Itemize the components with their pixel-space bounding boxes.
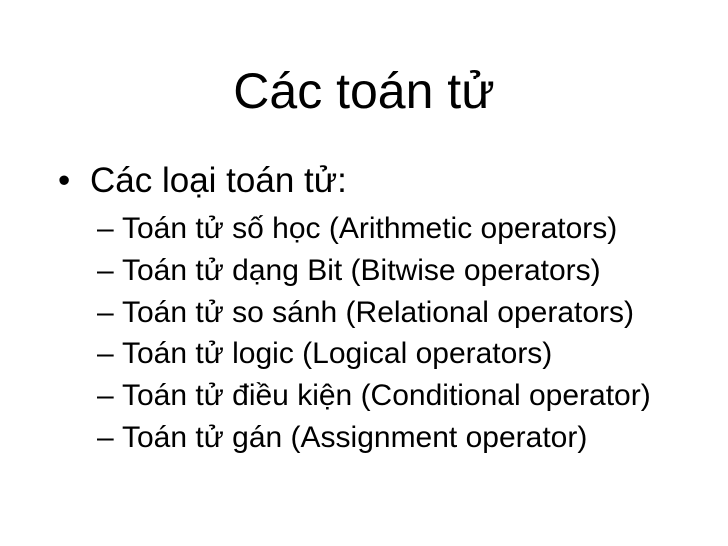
list-item: – Toán tử gán (Assignment operator) (0, 417, 728, 459)
list-item: – Toán tử số học (Arithmetic operators) (0, 208, 728, 250)
list-item: – Toán tử so sánh (Relational operators) (0, 292, 728, 334)
list-item-label: Toán tử điều kiện (Conditional operator) (122, 379, 651, 412)
list-item: – Toán tử logic (Logical operators) (0, 333, 728, 375)
bullet-dot-icon: • (58, 160, 70, 202)
bullet-dash-icon: – (97, 250, 114, 292)
list-item: – Toán tử dạng Bit (Bitwise operators) (0, 250, 728, 292)
sub-list: – Toán tử số học (Arithmetic operators) … (0, 208, 728, 459)
list-item: – Toán tử điều kiện (Conditional operato… (0, 375, 728, 417)
list-item: • Các loại toán tử: (0, 160, 728, 202)
list-item-label: Các loại toán tử: (90, 161, 347, 200)
bullet-dash-icon: – (97, 208, 114, 250)
list-item-label: Toán tử dạng Bit (Bitwise operators) (122, 254, 601, 287)
slide: Các toán tử • Các loại toán tử: – Toán t… (0, 0, 728, 546)
list-item-label: Toán tử so sánh (Relational operators) (122, 296, 634, 329)
page-title: Các toán tử (0, 64, 728, 118)
bullet-dash-icon: – (97, 375, 114, 417)
list-item-label: Toán tử số học (Arithmetic operators) (122, 212, 617, 245)
bullet-dash-icon: – (97, 292, 114, 334)
bullet-dash-icon: – (97, 333, 114, 375)
list-item-label: Toán tử logic (Logical operators) (122, 337, 552, 370)
bullet-dash-icon: – (97, 417, 114, 459)
slide-content-body: • Các loại toán tử: – Toán tử số học (Ar… (0, 160, 728, 459)
list-item-label: Toán tử gán (Assignment operator) (122, 421, 587, 454)
